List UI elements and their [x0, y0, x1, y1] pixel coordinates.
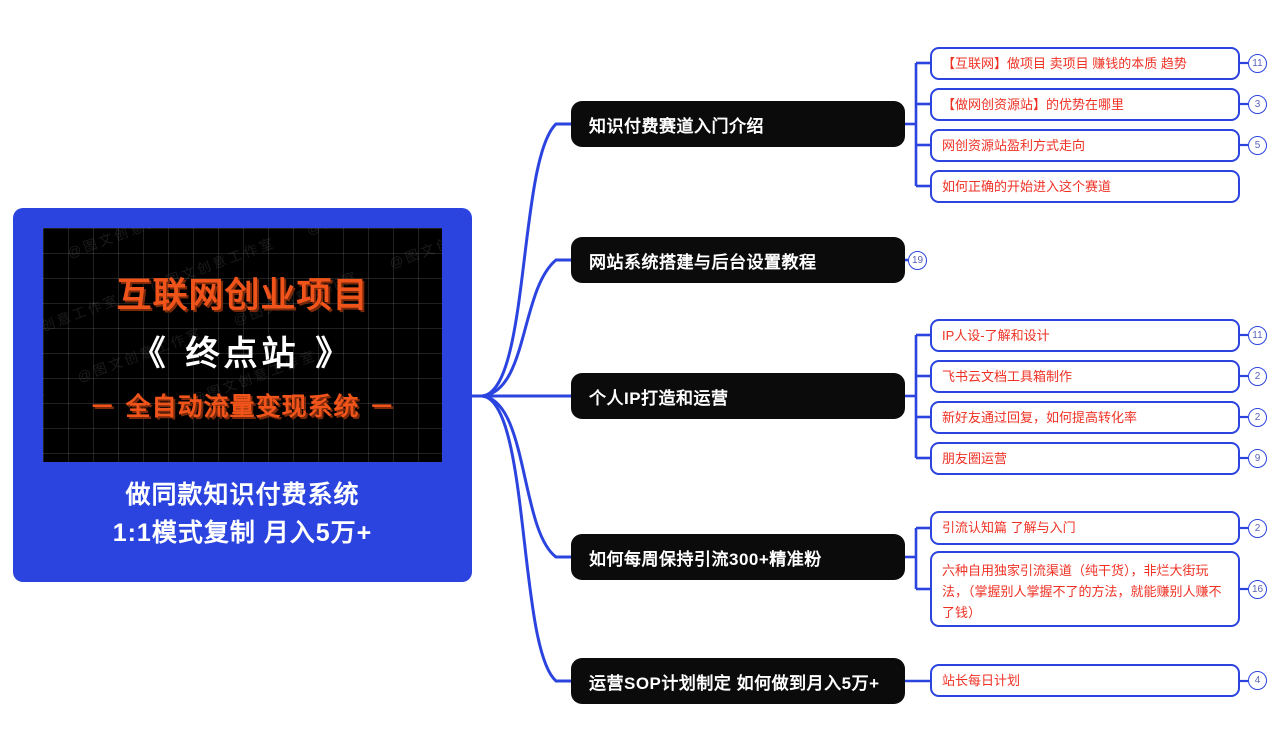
leaf-node-3-4[interactable]: 朋友圈运营: [930, 442, 1240, 475]
branch-node-3[interactable]: 个人IP打造和运营: [571, 373, 905, 419]
badge-5-1: 4: [1248, 671, 1267, 690]
badge-4-1: 2: [1248, 519, 1267, 538]
badge-1-1: 11: [1248, 54, 1267, 73]
leaf-node-1-1[interactable]: 【互联网】做项目 卖项目 赚钱的本质 趋势: [930, 47, 1240, 80]
leaf-node-4-1[interactable]: 引流认知篇 了解与入门: [930, 511, 1240, 545]
badge-3-2: 2: [1248, 367, 1267, 386]
badge-1-2: 3: [1248, 95, 1267, 114]
leaf-node-1-3[interactable]: 网创资源站盈利方式走向: [930, 129, 1240, 162]
branch-node-2[interactable]: 网站系统搭建与后台设置教程: [571, 237, 905, 283]
branch-node-5[interactable]: 运营SOP计划制定 如何做到月入5万+: [571, 658, 905, 704]
leaf-node-1-4[interactable]: 如何正确的开始进入这个赛道: [930, 170, 1240, 203]
mindmap-canvas: @图文创意工作室 @图文创意工作室 @图文创意工作室 @图文创意工作室 @图文创…: [0, 0, 1278, 750]
poster-title: 互联网创业项目: [116, 267, 368, 318]
leaf-node-3-1[interactable]: IP人设-了解和设计: [930, 319, 1240, 352]
leaf-node-1-2[interactable]: 【做网创资源站】的优势在哪里: [930, 88, 1240, 121]
badge-1-3: 5: [1248, 136, 1267, 155]
root-caption: 做同款知识付费系统 1:1模式复制 月入5万+: [13, 476, 472, 552]
root-caption-line-2: 1:1模式复制 月入5万+: [13, 514, 472, 552]
badge-2: 19: [908, 251, 927, 270]
badge-3-1: 11: [1248, 326, 1267, 345]
badge-3-4: 9: [1248, 449, 1267, 468]
poster-tagline: － 全自动流量变现系统 －: [90, 387, 395, 423]
branch-node-4[interactable]: 如何每周保持引流300+精准粉: [571, 534, 905, 580]
leaf-node-4-2[interactable]: 六种自用独家引流渠道（纯干货），非烂大街玩法，（掌握别人掌握不了的方法，就能赚别…: [930, 551, 1240, 627]
branch-node-1[interactable]: 知识付费赛道入门介绍: [571, 101, 905, 147]
leaf-node-5-1[interactable]: 站长每日计划: [930, 664, 1240, 697]
badge-4-2: 16: [1248, 580, 1267, 599]
root-poster-image: @图文创意工作室 @图文创意工作室 @图文创意工作室 @图文创意工作室 @图文创…: [43, 228, 442, 462]
root-caption-line-1: 做同款知识付费系统: [13, 476, 472, 514]
badge-3-3: 2: [1248, 408, 1267, 427]
leaf-node-3-3[interactable]: 新好友通过回复，如何提高转化率: [930, 401, 1240, 434]
leaf-node-3-2[interactable]: 飞书云文档工具箱制作: [930, 360, 1240, 393]
poster-subtitle: 《 终点站 》: [132, 326, 354, 375]
